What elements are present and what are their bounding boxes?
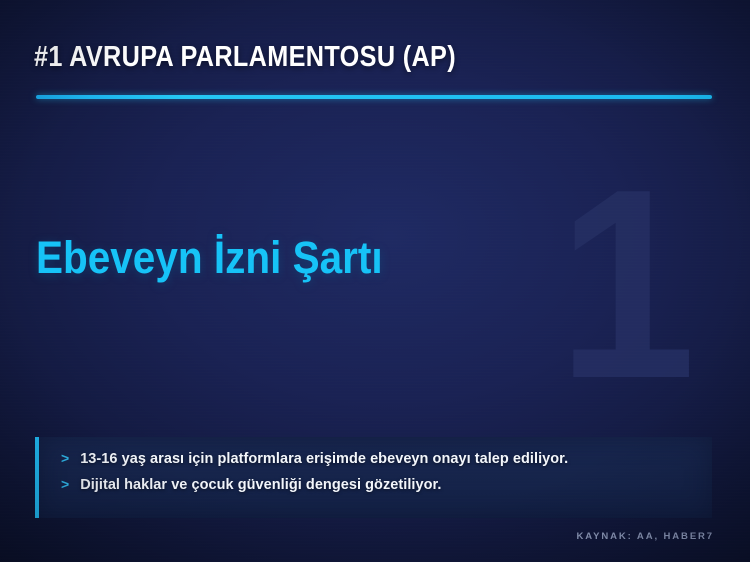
slide-kicker-title: #1 AVRUPA PARLAMENTOSU (AP): [34, 41, 456, 74]
bullet-text: 13-16 yaş arası için platformlara erişim…: [80, 452, 568, 468]
bullet-text: Dijital haklar ve çocuk güvenliği denges…: [80, 478, 441, 494]
watermark-number: 1: [558, 150, 692, 420]
chevron-right-icon: >: [61, 477, 69, 491]
infographic-slide: 1 #1 AVRUPA PARLAMENTOSU (AP) Ebeveyn İz…: [0, 0, 750, 562]
bullet-panel: > 13-16 yaş arası için platformlara eriş…: [35, 437, 712, 518]
bullet-list: > 13-16 yaş arası için platformlara eriş…: [39, 437, 712, 494]
source-credit: KAYNAK: AA, HABER7: [577, 531, 714, 542]
list-item: > Dijital haklar ve çocuk güvenliği deng…: [61, 477, 712, 494]
page-title: Ebeveyn İzni Şartı: [36, 234, 383, 281]
accent-divider: [36, 95, 712, 99]
chevron-right-icon: >: [61, 451, 69, 465]
list-item: > 13-16 yaş arası için platformlara eriş…: [61, 451, 712, 468]
